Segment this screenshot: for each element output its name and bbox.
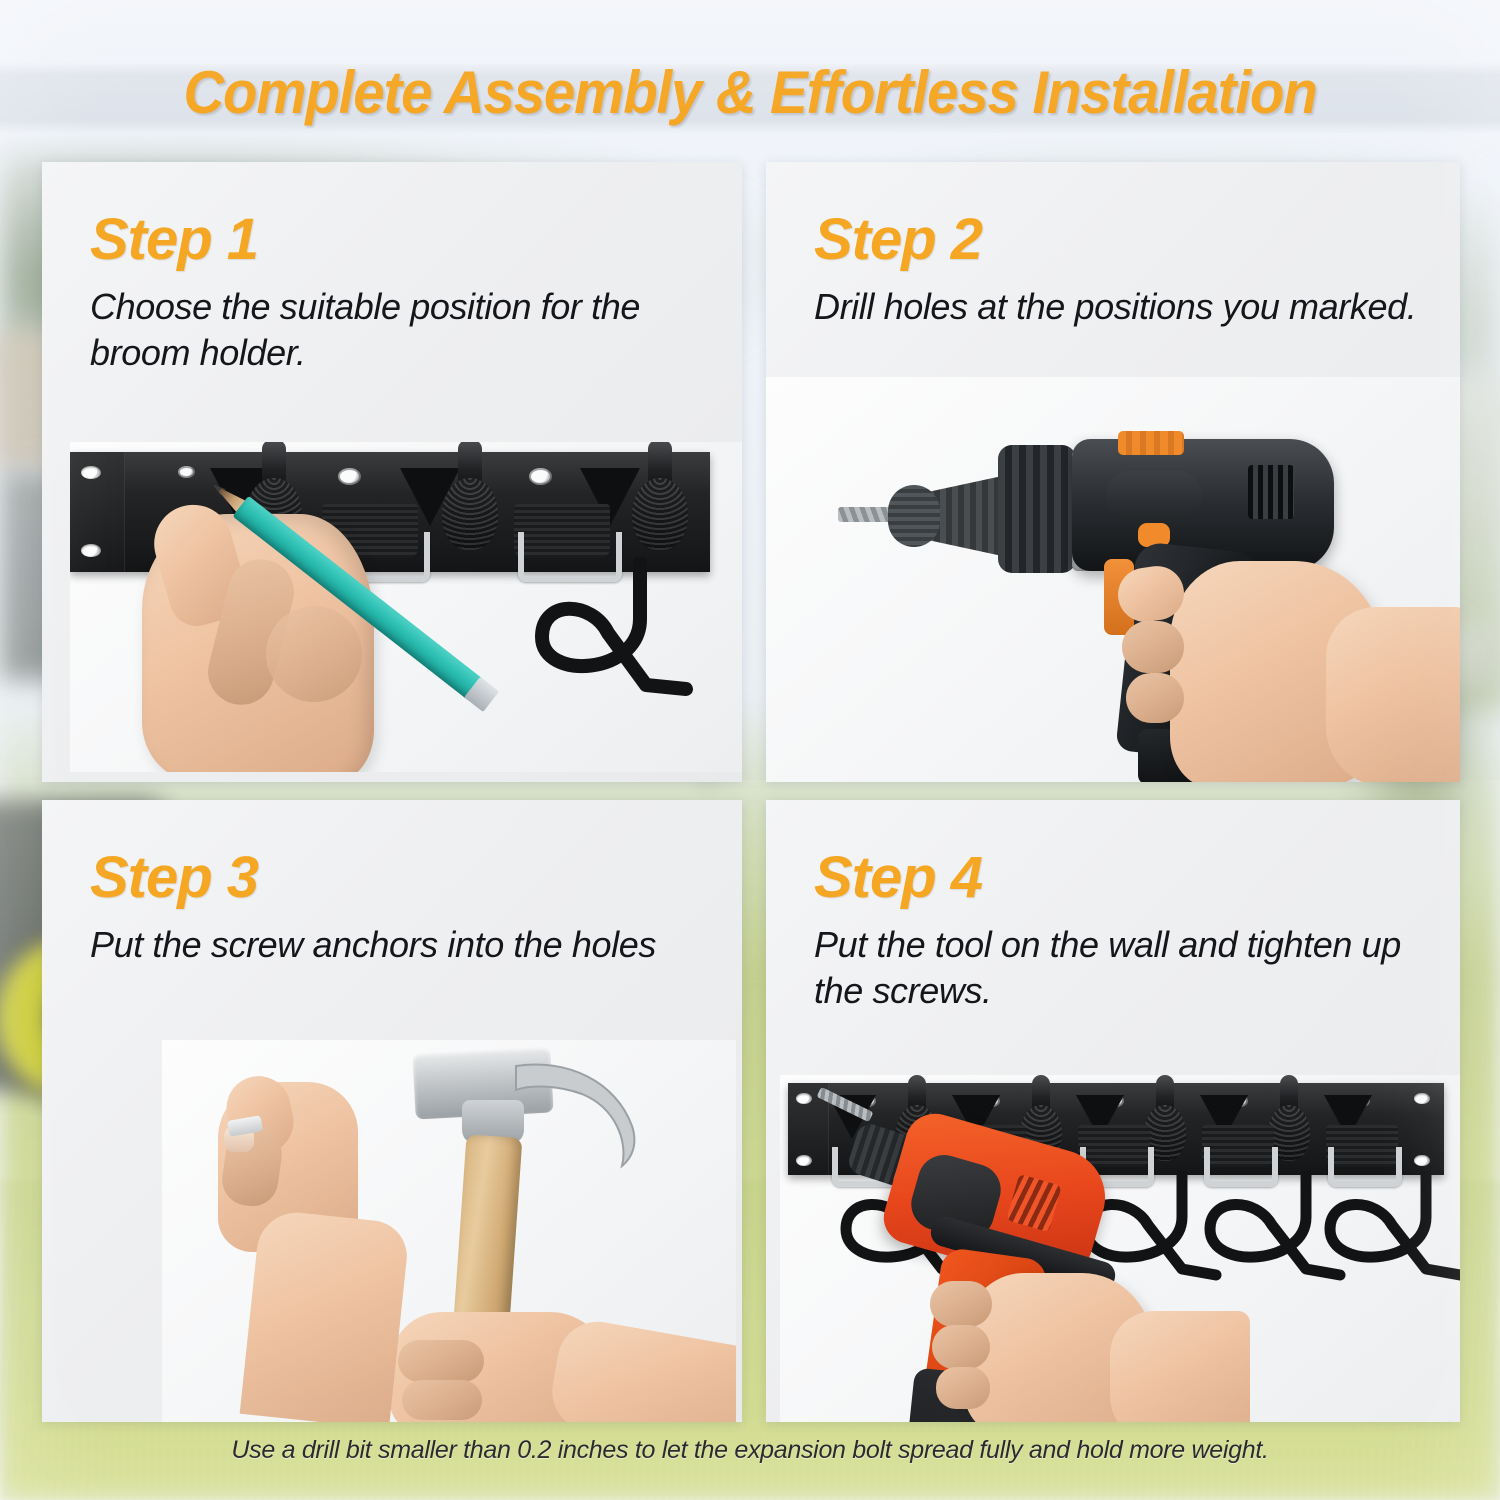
rubber-gripper: [442, 478, 498, 550]
finger: [932, 1325, 990, 1369]
wrist: [1110, 1311, 1250, 1422]
drill-orange-accent: [1118, 431, 1184, 455]
finger: [936, 1367, 990, 1409]
step-4-body: Put the tool on the wall and tighten up …: [814, 922, 1430, 1014]
finger: [930, 1281, 992, 1327]
s-hook: [1292, 1171, 1460, 1321]
screw-hole: [796, 1093, 812, 1104]
footer-note: Use a drill bit smaller than 0.2 inches …: [0, 1436, 1500, 1465]
drilling-holes-photo: [766, 377, 1460, 782]
marking-position-photo: [70, 442, 742, 772]
screw-hole: [1414, 1093, 1430, 1104]
step-1-heading: Step 1: [90, 206, 258, 273]
step-4-heading: Step 4: [814, 844, 982, 911]
step-3-heading: Step 3: [90, 844, 258, 911]
step-2-body: Drill holes at the positions you marked.: [814, 284, 1430, 330]
rubber-gripper: [632, 478, 688, 550]
drill-vents: [1248, 465, 1294, 519]
screw-hole: [81, 544, 101, 557]
step-panel-1: Step 1 Choose the suitable position for …: [42, 162, 742, 782]
step-panel-3: Step 3 Put the screw anchors into the ho…: [42, 800, 742, 1422]
step-panel-2: Step 2 Drill holes at the positions you …: [766, 162, 1460, 782]
step-2-heading: Step 2: [814, 206, 982, 273]
chuck-nose: [888, 485, 940, 547]
page-title: Complete Assembly & Effortless Installat…: [45, 58, 1455, 127]
screw-hole: [1414, 1155, 1430, 1166]
mounting-rail-photo: [780, 1075, 1460, 1422]
s-hook: [480, 557, 710, 757]
step-3-body: Put the screw anchors into the holes: [90, 922, 712, 968]
finger: [1126, 673, 1184, 723]
rail-hole: [178, 466, 195, 478]
inserting-anchors-photo: [162, 1040, 736, 1422]
knuckle: [266, 606, 362, 702]
finger: [398, 1340, 484, 1382]
screw-hole: [796, 1155, 812, 1166]
rail-hole: [529, 468, 552, 485]
rail-hole: [338, 468, 361, 485]
wrist: [1326, 607, 1460, 782]
hammer-claw: [512, 1052, 652, 1172]
screw-hole: [81, 466, 101, 479]
step-1-body: Choose the suitable position for the bro…: [90, 284, 712, 376]
drill-grip-inlay: [1106, 471, 1202, 519]
finger: [1122, 621, 1184, 673]
forearm: [240, 1209, 411, 1422]
finger: [402, 1380, 482, 1420]
step-panel-4: Step 4 Put the tool on the wall and tigh…: [766, 800, 1460, 1422]
torque-collar: [998, 445, 1076, 573]
